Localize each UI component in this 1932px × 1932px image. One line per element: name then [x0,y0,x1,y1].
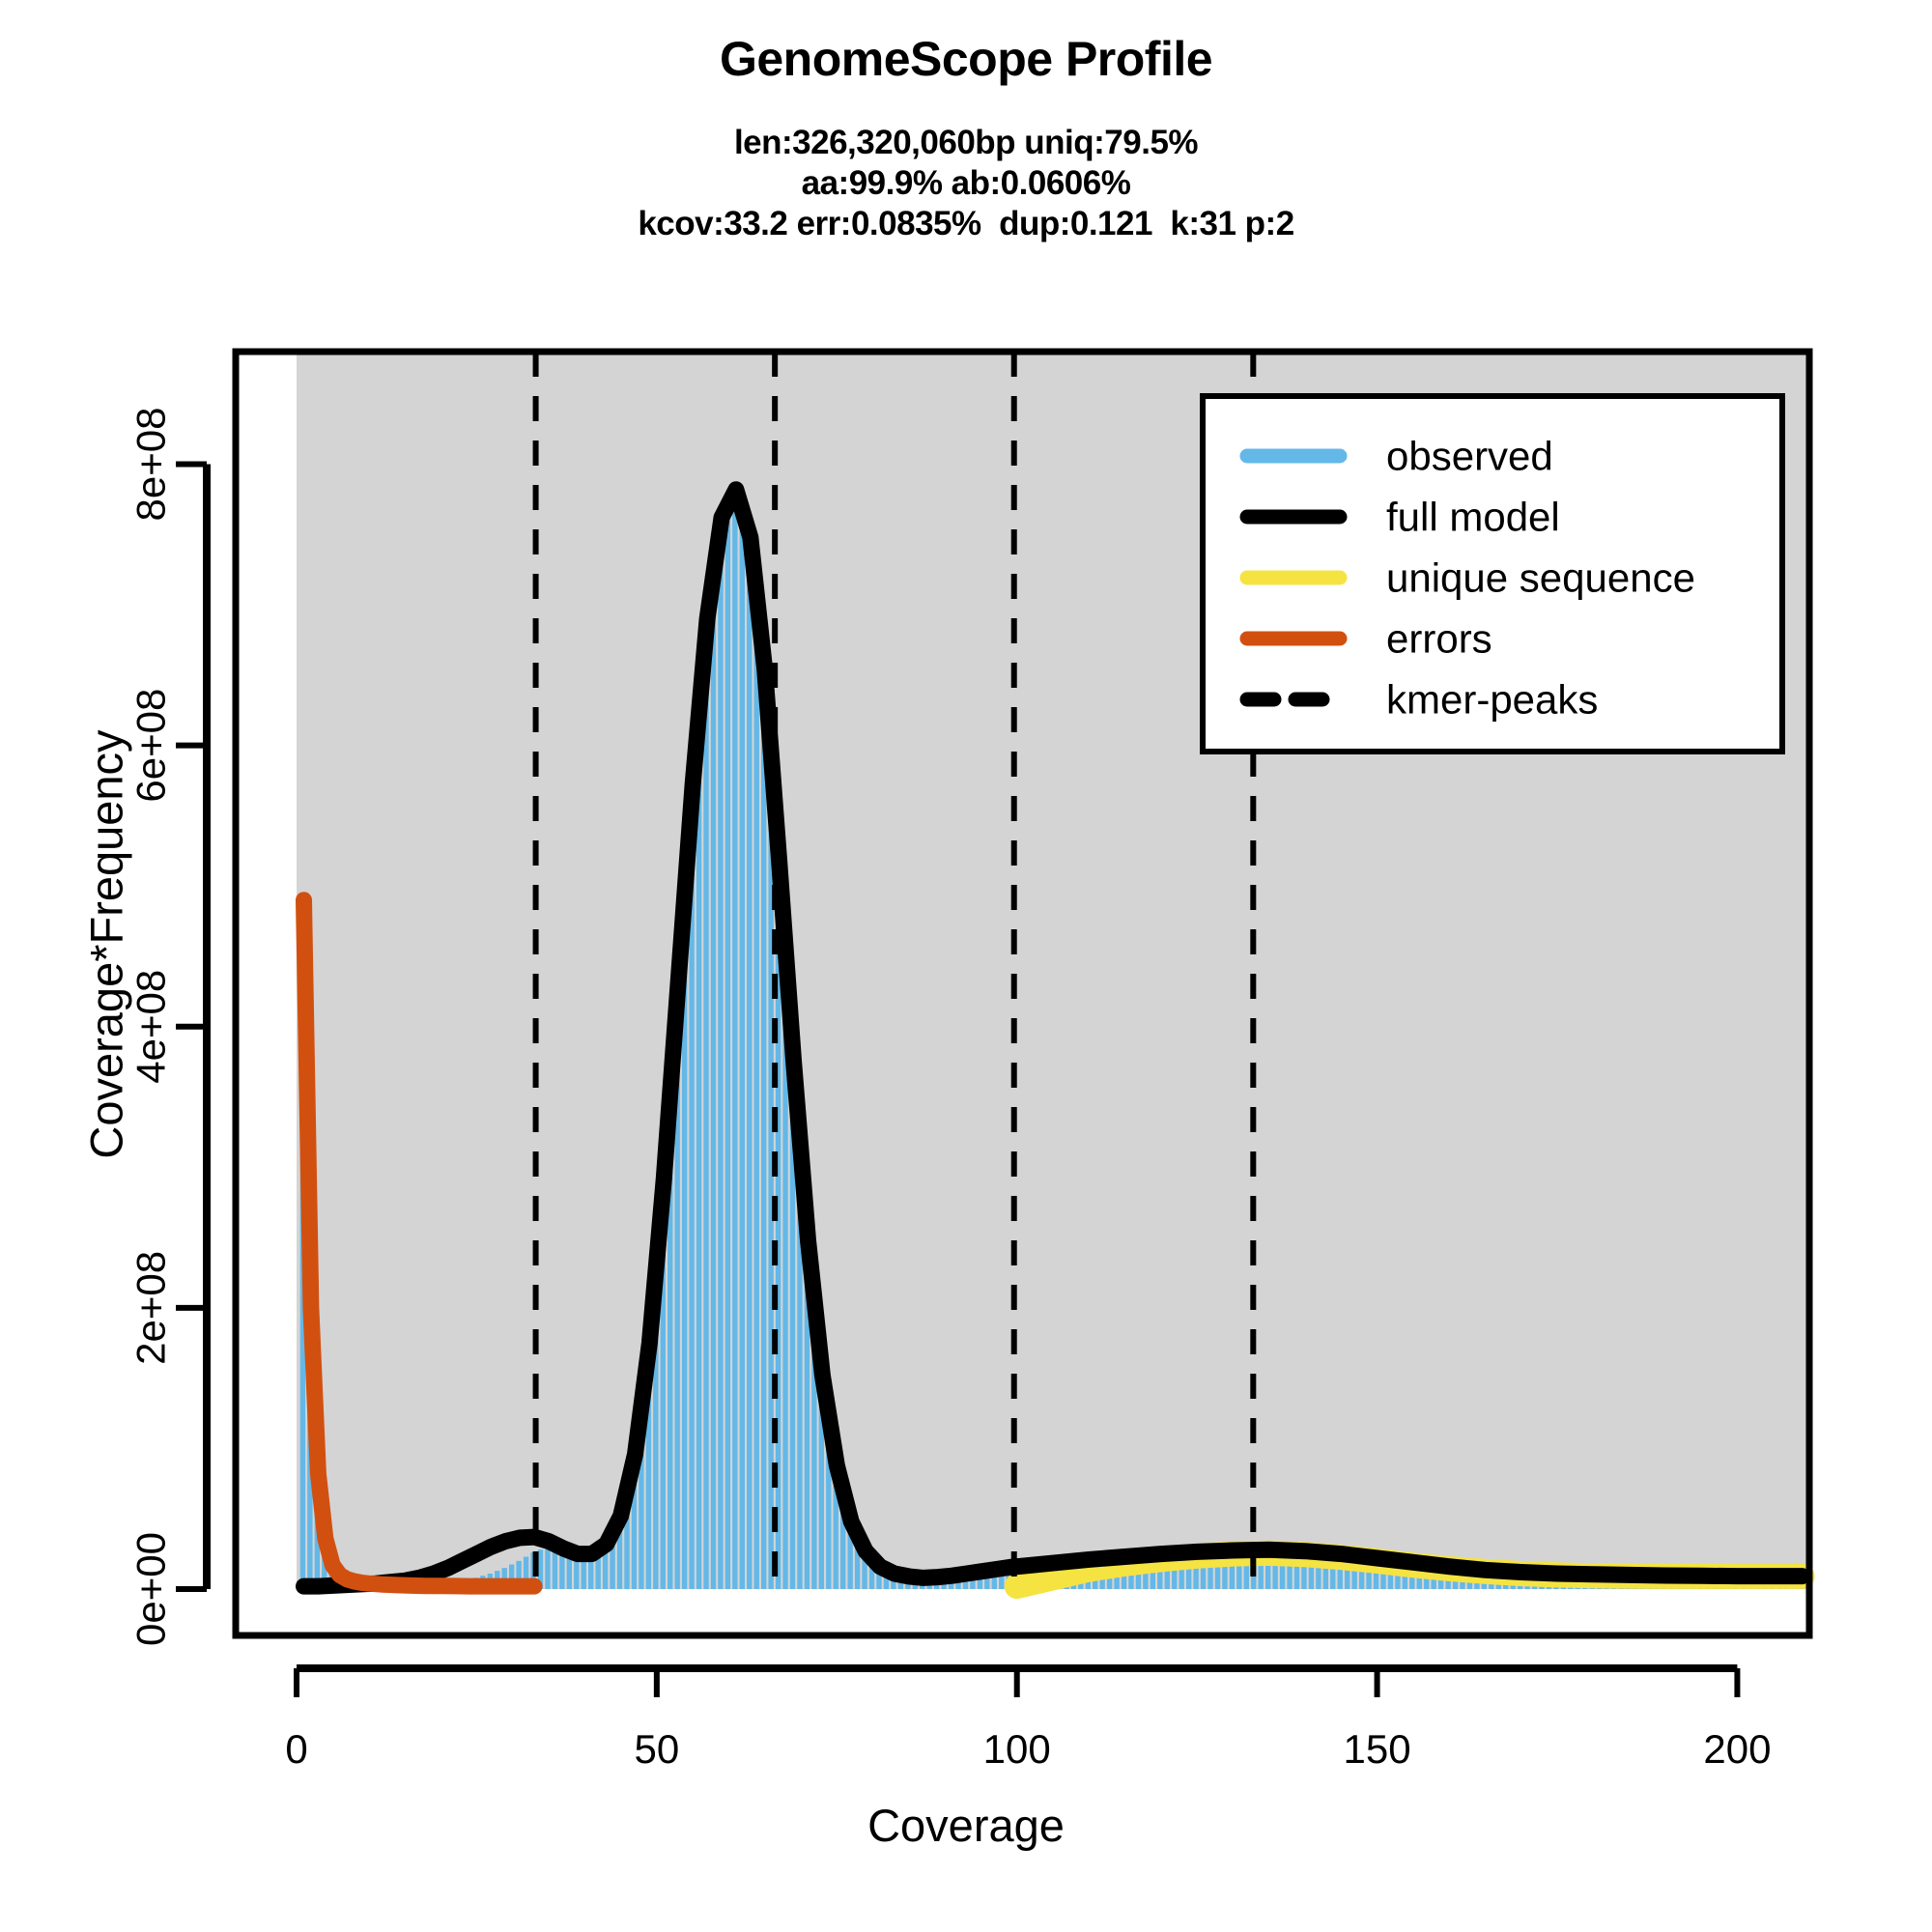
x-tick-label-150: 150 [1344,1726,1411,1772]
legend-label-observed: observed [1386,434,1553,479]
y-tick-label-0: 0e+00 [128,1532,174,1646]
legend-label-errors: errors [1386,616,1492,662]
legend-label-kmer-peaks: kmer-peaks [1386,677,1598,723]
y-tick-label-1: 2e+08 [128,1251,174,1365]
x-tick-label-0: 0 [285,1726,307,1772]
x-tick-label-200: 200 [1703,1726,1771,1772]
y-tick-label-3: 6e+08 [128,689,174,803]
legend-label-full-model: full model [1386,495,1560,540]
y-tick-label-2: 4e+08 [128,970,174,1084]
x-tick-label-50: 50 [634,1726,679,1772]
genomescope-profile-figure: GenomeScope Profile len:326,320,060bp un… [0,0,1932,1932]
y-tick-label-4: 8e+08 [128,407,174,521]
legend-label-unique-sequence: unique sequence [1386,555,1695,601]
x-tick-label-100: 100 [983,1726,1051,1772]
chart-canvas: 0501001502000e+002e+084e+086e+088e+08obs… [0,0,1932,1932]
